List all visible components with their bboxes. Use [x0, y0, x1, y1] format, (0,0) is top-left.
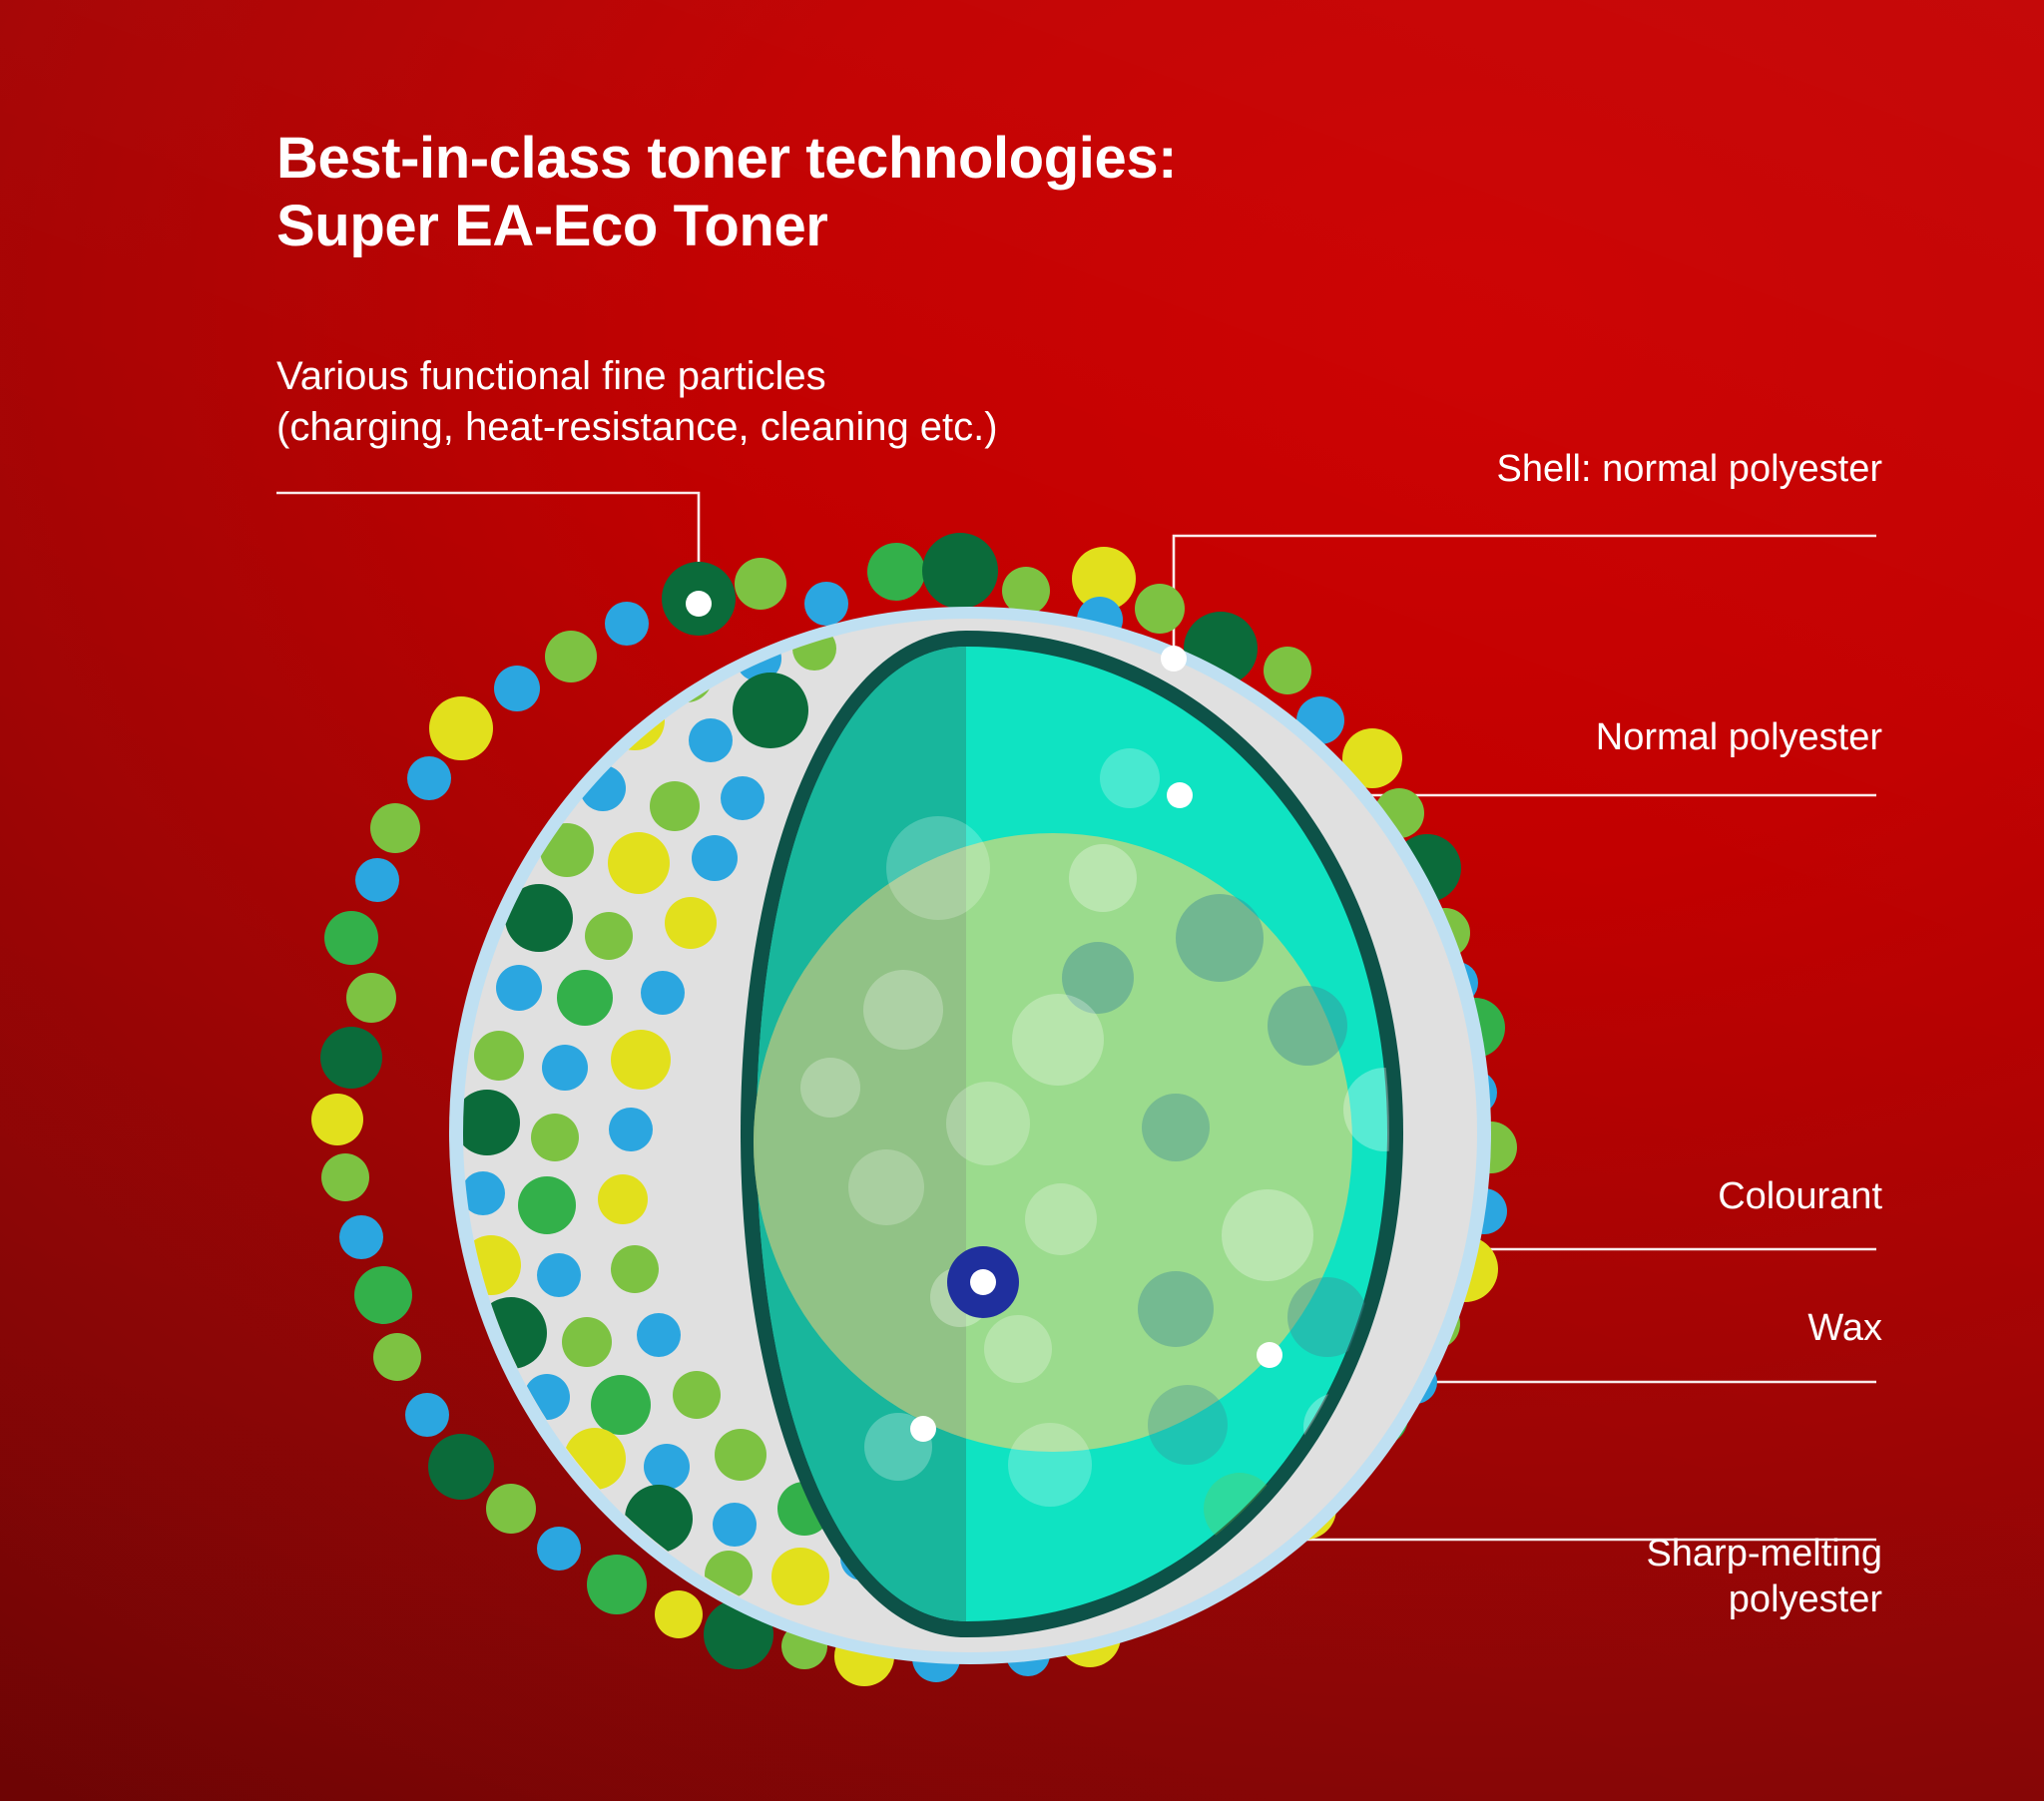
internal-blob-blob	[1025, 1183, 1097, 1255]
fine-particle-blue	[713, 1503, 757, 1547]
fine-particle-green	[591, 1375, 651, 1435]
callout-marker-sharp[interactable]	[910, 1416, 936, 1442]
fine-particle-light-green	[1264, 647, 1311, 694]
internal-blob-blob	[984, 1315, 1052, 1383]
internal-blob-blob	[1222, 1189, 1313, 1281]
fine-particle-blue	[494, 666, 540, 711]
fine-particle-light-green	[370, 803, 420, 853]
callout-marker-wax[interactable]	[1257, 1342, 1282, 1368]
fine-particle-blue	[537, 1527, 581, 1571]
fine-particle-blue	[692, 835, 738, 881]
fine-particle-dark-green	[320, 1027, 382, 1089]
fine-particle-light-green	[673, 1371, 721, 1419]
internal-blob-blob	[1138, 1271, 1214, 1347]
fine-particle-green	[518, 1176, 576, 1234]
fine-particle-blue	[689, 718, 733, 762]
fine-particle-green	[354, 1266, 412, 1324]
callout-label-wax: Wax	[1807, 1305, 1882, 1351]
fine-particle-light-green	[486, 1484, 536, 1534]
internal-blob-blob	[1069, 844, 1137, 912]
fine-particle-blue	[496, 965, 542, 1011]
callout-label-sharp-melting-polyester: Sharp-melting polyester	[1646, 1531, 1882, 1623]
internal-blob-blob	[1012, 994, 1104, 1086]
fine-particle-light-green	[474, 1031, 524, 1081]
infographic-page: Best-in-class toner technologies: Super …	[0, 0, 2044, 1801]
leader-line-shell	[1174, 536, 1876, 659]
internal-blob-blob	[886, 816, 990, 920]
leader-line-fine-particles	[276, 493, 699, 604]
fine-particle-blue	[339, 1215, 383, 1259]
fine-particle-blue	[804, 582, 848, 626]
fine-particle-dark-green	[428, 1434, 494, 1500]
internal-blob-blob	[1148, 1385, 1228, 1465]
callout-label-normal-polyester: Normal polyester	[1596, 714, 1882, 760]
fine-particle-blue	[609, 1108, 653, 1151]
fine-particle-blue	[405, 1393, 449, 1437]
fine-particle-light-green	[1135, 584, 1185, 634]
internal-blob-blob	[800, 1058, 860, 1118]
fine-particle-blue	[637, 1313, 681, 1357]
callout-marker-fine-particles[interactable]	[686, 591, 712, 617]
fine-particle-light-green	[373, 1333, 421, 1381]
fine-particle-yellow	[429, 696, 493, 760]
fine-particle-blue	[355, 858, 399, 902]
internal-blob-blob	[863, 970, 943, 1050]
fine-particles-caption: Various functional fine particles (charg…	[276, 351, 1275, 453]
fine-particle-blue	[407, 756, 451, 800]
fine-particle-blue	[605, 602, 649, 646]
fine-particle-dark-green	[733, 673, 808, 748]
fine-particle-light-green	[531, 1114, 579, 1161]
callout-marker-normal[interactable]	[1167, 782, 1193, 808]
internal-blob-blob	[848, 1149, 924, 1225]
internal-blob-blob	[946, 1082, 1030, 1165]
fine-particle-green	[557, 970, 613, 1026]
fine-particle-green	[867, 543, 925, 601]
fine-particle-yellow	[655, 1590, 703, 1638]
fine-particle-blue	[644, 1444, 690, 1490]
fine-particle-light-green	[562, 1317, 612, 1367]
callout-label-colourant: Colourant	[1718, 1173, 1882, 1219]
fine-particle-light-green	[321, 1153, 369, 1201]
fine-particle-light-green	[1002, 567, 1050, 615]
fine-particle-light-green	[585, 912, 633, 960]
callout-label-shell: Shell: normal polyester	[1496, 446, 1882, 492]
fine-particle-green	[587, 1555, 647, 1614]
fine-particle-light-green	[735, 558, 786, 610]
callout-marker-shell[interactable]	[1161, 646, 1187, 672]
fine-particle-blue	[542, 1045, 588, 1091]
internal-blob-blob	[1268, 986, 1347, 1066]
fine-particle-yellow	[608, 832, 670, 894]
fine-particle-light-green	[650, 781, 700, 831]
fine-particle-light-green	[346, 973, 396, 1023]
page-title: Best-in-class toner technologies: Super …	[276, 125, 1474, 261]
internal-blob-blob	[1100, 748, 1160, 808]
internal-blob-blob	[1142, 1094, 1210, 1161]
fine-particle-yellow	[665, 897, 717, 949]
fine-particle-yellow	[598, 1174, 648, 1224]
fine-particle-light-green	[715, 1429, 766, 1481]
fine-particle-light-green	[545, 631, 597, 682]
internal-blob-blob	[1176, 894, 1264, 982]
fine-particle-yellow	[771, 1548, 829, 1605]
fine-particle-dark-green	[922, 533, 998, 609]
fine-particle-light-green	[611, 1245, 659, 1293]
fine-particle-green	[324, 911, 378, 965]
fine-particle-blue	[641, 971, 685, 1015]
fine-particle-blue	[537, 1253, 581, 1297]
fine-particle-yellow	[311, 1094, 363, 1145]
fine-particle-blue	[721, 776, 765, 820]
fine-particle-yellow	[611, 1030, 671, 1090]
callout-marker-colourant[interactable]	[970, 1269, 996, 1295]
internal-blob-blob	[1008, 1423, 1092, 1507]
